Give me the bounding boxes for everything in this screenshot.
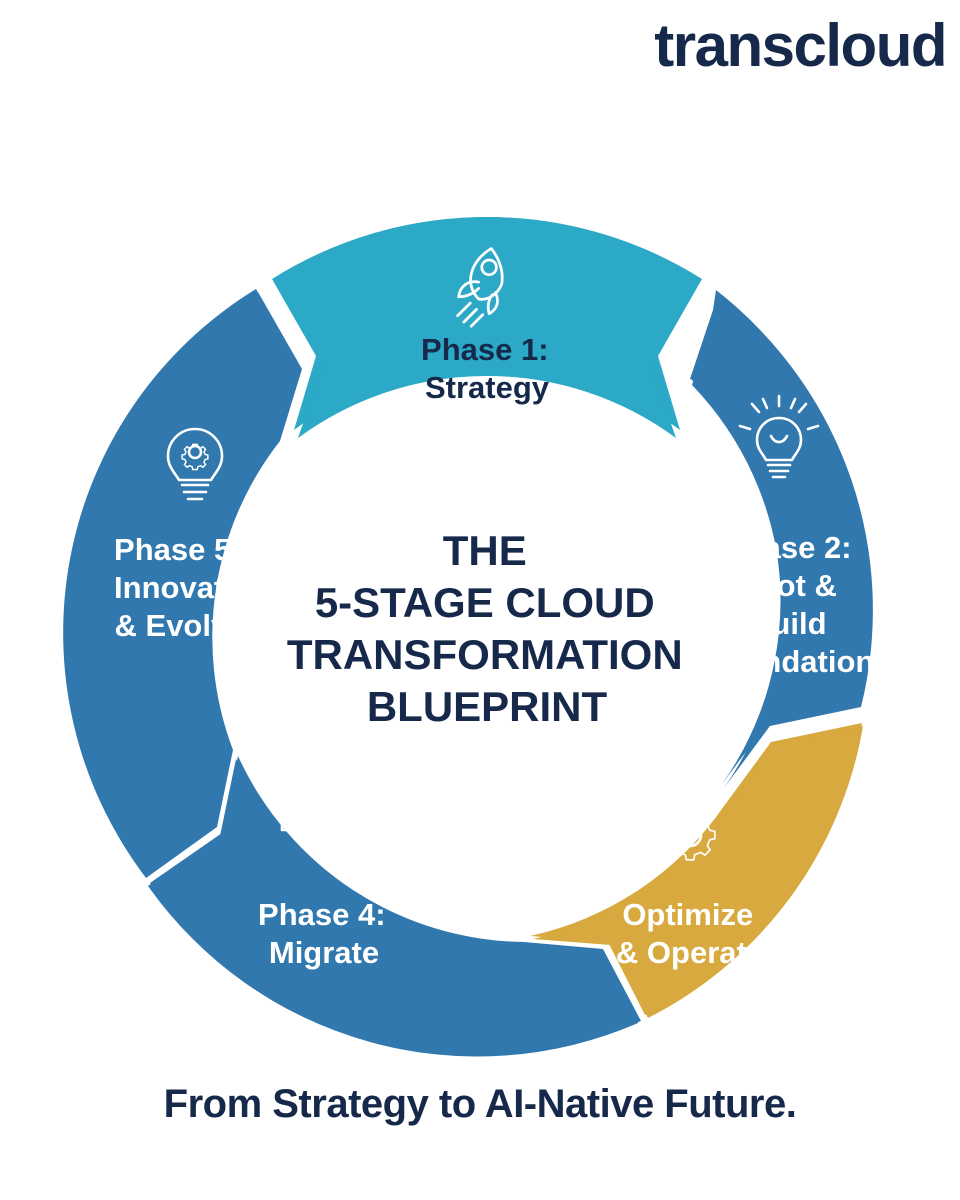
segment-phase-2-line-2: Build bbox=[749, 606, 827, 641]
center-line-3: BLUEPRINT bbox=[367, 683, 608, 730]
segment-phase-5-label: Phase 5: Innovate & Evolve bbox=[114, 532, 246, 643]
segment-phase-5-line-0: Phase 5: bbox=[114, 532, 242, 567]
center-line-2: TRANSFORMATION bbox=[287, 631, 683, 678]
segment-phase-4-line-1: Migrate bbox=[269, 935, 379, 970]
segment-phase-2-line-1: Pilot & bbox=[739, 568, 837, 603]
segment-phase-5-line-1: Innovate bbox=[114, 570, 241, 605]
segment-phase-1-line-0: Phase 1: bbox=[421, 332, 549, 367]
servers-migrate-icon bbox=[282, 786, 342, 842]
segment-phase-2-line-3: Foundation bbox=[706, 644, 875, 679]
segment-phase-2-line-0: Phase 2: bbox=[724, 530, 852, 565]
segment-phase-3-line-1: & Operate bbox=[616, 935, 764, 970]
segment-phase-2[interactable]: Phase 2: Pilot & Build Foundation bbox=[690, 290, 874, 788]
cycle-wheel-svg: Phase 1: Strategy Phase 2: Pilot & Build… bbox=[0, 170, 960, 1070]
cycle-diagram: Phase 1: Strategy Phase 2: Pilot & Build… bbox=[0, 170, 960, 1070]
center-line-1: 5-STAGE CLOUD bbox=[315, 579, 655, 626]
segment-phase-1[interactable]: Phase 1: Strategy bbox=[272, 217, 702, 438]
segment-phase-1-line-1: Strategy bbox=[425, 370, 550, 405]
tagline: From Strategy to AI-Native Future. bbox=[0, 1082, 960, 1127]
segment-phase-5[interactable]: Phase 5: Innovate & Evolve bbox=[63, 289, 302, 878]
brand-wordmark: transcloud bbox=[654, 10, 946, 82]
segment-phase-4-line-0: Phase 4: bbox=[258, 897, 386, 932]
segment-phase-3-line-0: Optimize bbox=[622, 897, 753, 932]
center-line-0: THE bbox=[443, 527, 527, 574]
brand-logo: transcloud bbox=[654, 10, 946, 82]
segment-phase-5-line-2: & Evolve bbox=[115, 608, 246, 643]
